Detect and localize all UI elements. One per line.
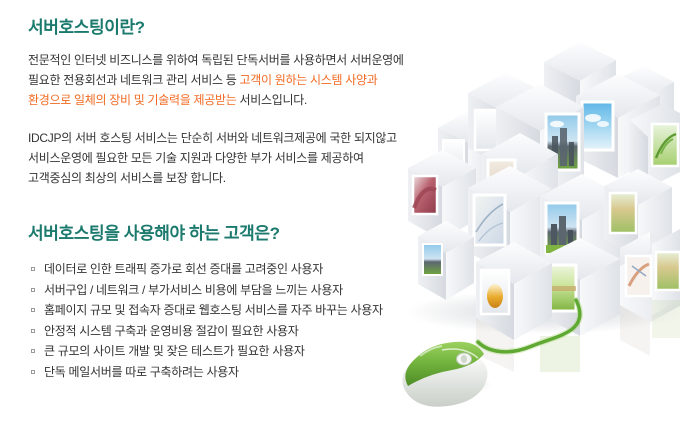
promo-page: 서버호스팅이란? 전문적인 인터넷 비즈니스를 위하여 독립된 단독서버를 사용…	[0, 0, 680, 425]
target-customer-list: 데이터로 인한 트래픽 증가로 회선 증대를 고려중인 사용자 서버구입 / 네…	[30, 259, 383, 382]
intro-line-3-plain: 서비스입니다.	[237, 93, 308, 107]
cube-back-3	[544, 42, 616, 130]
detail-line-3: 고객중심의 최상의 서비스를 보장 합니다.	[28, 168, 397, 188]
detail-line-1: IDCJP의 서버 호스팅 서비스는 단순히 서버와 네트워크제공에 국한 되지…	[28, 128, 397, 148]
list-item-label: 안정적 시스템 구축과 운영비용 절감이 필요한 사용자	[44, 321, 299, 342]
cube-back-4	[612, 66, 674, 150]
cube-field-mid	[604, 169, 672, 258]
square-bullet-icon	[31, 370, 35, 374]
square-bullet-icon	[31, 267, 35, 271]
intro-line-2-plain: 필요한 전용회선과 네트워크 관리 서비스 등	[28, 73, 240, 87]
list-item: 데이터로 인한 트래픽 증가로 회선 증대를 고려중인 사용자	[30, 259, 383, 280]
cube-sky	[576, 74, 660, 178]
cube-map-front	[468, 166, 552, 275]
mouse-cable	[478, 300, 580, 352]
cube-gold-front	[476, 242, 552, 340]
intro-line-2: 필요한 전용회선과 네트워크 관리 서비스 등 고객이 원하는 시스템 사양과	[28, 70, 404, 90]
cube-city-front	[540, 174, 624, 282]
list-item-label: 홈페이지 규모 및 접속자 증대로 웹호스팅 서비스를 자주 바꾸는 사용자	[44, 300, 383, 321]
square-bullet-icon	[31, 308, 35, 312]
list-item-label: 데이터로 인한 트래픽 증가로 회선 증대를 고려중인 사용자	[44, 259, 323, 280]
list-item: 단독 메일서버를 따로 구축하려는 사용자	[30, 362, 383, 383]
list-item: 홈페이지 규모 및 접속자 증대로 웹호스팅 서비스를 자주 바꾸는 사용자	[30, 300, 383, 321]
intro-line-1: 전문적인 인터넷 비즈니스를 위하여 독립된 단독서버를 사용하면서 서버운영에	[28, 50, 404, 70]
list-item-label: 서버구입 / 네트워크 / 부가서비스 비용에 부담을 느끼는 사용자	[44, 280, 343, 301]
square-bullet-icon	[31, 329, 35, 333]
intro-section-title: 서버호스팅이란?	[28, 18, 145, 38]
list-item: 큰 규모의 사이트 개발 및 잦은 테스트가 필요한 사용자	[30, 341, 383, 362]
list-item: 안정적 시스템 구축과 운영비용 절감이 필요한 사용자	[30, 321, 383, 342]
intro-line-3: 환경으로 일체의 장비 및 기술력을 제공받는 서비스입니다.	[28, 90, 404, 110]
cube-grass-front	[540, 238, 620, 336]
cube-stone	[482, 133, 558, 232]
list-item: 서버구입 / 네트워크 / 부가서비스 비용에 부담을 느끼는 사용자	[30, 280, 383, 301]
text-content: 서버호스팅이란? 전문적인 인터넷 비즈니스를 위하여 독립된 단독서버를 사용…	[28, 0, 468, 425]
intro-line-2-highlight: 고객이 원하는 시스템 사양과	[240, 73, 378, 87]
target-section-title: 서버호스팅을 사용해야 하는 고객은?	[28, 224, 280, 244]
cube-reflections	[476, 300, 680, 372]
detail-line-2: 서비스운영에 필요한 모든 기술 지원과 다양한 부가 서비스를 제공하여	[28, 148, 397, 168]
cube-sketch-front	[620, 232, 680, 322]
cube-field-right	[652, 229, 680, 315]
square-bullet-icon	[31, 288, 35, 292]
square-bullet-icon	[31, 349, 35, 353]
intro-paragraph: 전문적인 인터넷 비즈니스를 위하여 독립된 단독서버를 사용하면서 서버운영에…	[28, 50, 404, 110]
cube-city-tall	[496, 84, 584, 200]
list-item-label: 큰 규모의 사이트 개발 및 잦은 테스트가 필요한 사용자	[44, 341, 305, 362]
intro-line-3-highlight: 환경으로 일체의 장비 및 기술력을 제공받는	[28, 93, 237, 107]
mouse-cable-glow	[478, 300, 580, 352]
cube-back-2	[468, 73, 542, 166]
cube-leaf-right	[630, 104, 680, 188]
list-item-label: 단독 메일서버를 따로 구축하려는 사용자	[44, 362, 239, 383]
detail-paragraph: IDCJP의 서버 호스팅 서비스는 단순히 서버와 네트워크제공에 국한 되지…	[28, 128, 397, 188]
